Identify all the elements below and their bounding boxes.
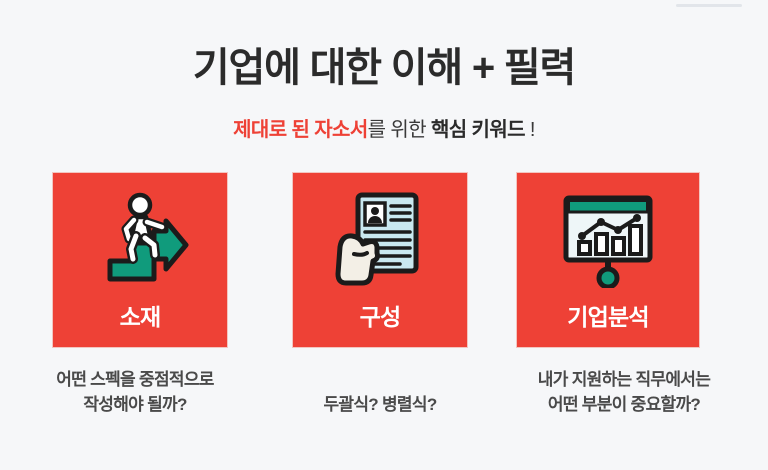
page-title: 기업에 대한 이해 + 필력 [0,44,768,92]
caption-guseong: 두괄식? 병렬식? [268,392,492,417]
card-gieopbunseok[interactable]: 기업분석 [516,172,700,348]
card-group: 소재 [52,172,700,348]
hand-holding-resume-icon [293,189,467,291]
page-subtitle: 제대로 된 자소서를 위한 핵심 키워드 ! [0,117,768,143]
caption-sojae-line2: 작성해야 될까? [0,392,270,417]
top-edge-artifact [676,4,742,7]
card-guseong[interactable]: 구성 [292,172,468,348]
caption-guseong-line1: 두괄식? 병렬식? [268,392,492,417]
slide-root: 기업에 대한 이해 + 필력 제대로 된 자소서를 위한 핵심 키워드 ! [0,0,768,470]
card-sojae[interactable]: 소재 [52,172,228,348]
subtitle-suffix: ! [525,119,535,141]
card-label-guseong: 구성 [293,303,467,331]
presentation-chart-board-icon [517,189,699,291]
card-label-gieopbunseok: 기업분석 [517,303,699,331]
subtitle-accent: 제대로 된 자소서 [233,119,368,141]
person-climbing-stairs-arrow-icon [53,189,227,291]
caption-gieopbunseok: 내가 지원하는 직무에서는 어떤 부분이 중요할까? [488,367,760,417]
subtitle-middle: 를 위한 [368,119,431,141]
caption-gieopbunseok-line2: 어떤 부분이 중요할까? [488,392,760,417]
subtitle-strong: 핵심 키워드 [431,119,525,141]
card-label-sojae: 소재 [53,303,227,331]
caption-sojae-line1: 어떤 스펙을 중점적으로 [0,367,270,392]
caption-gieopbunseok-line1: 내가 지원하는 직무에서는 [488,367,760,392]
caption-sojae: 어떤 스펙을 중점적으로 작성해야 될까? [0,367,270,417]
